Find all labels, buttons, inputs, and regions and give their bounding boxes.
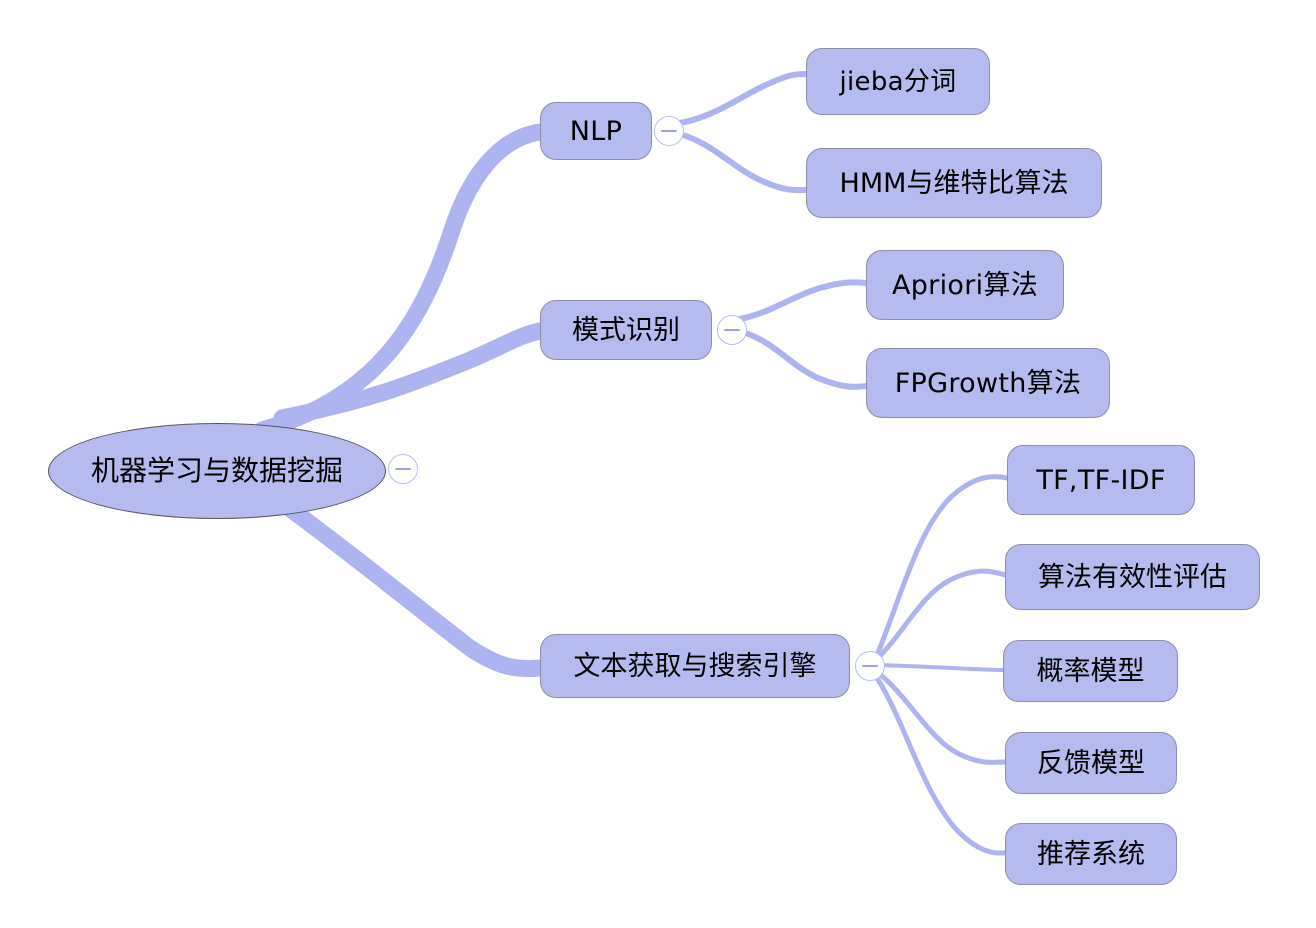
root-node[interactable]: 机器学习与数据挖掘 bbox=[48, 423, 386, 519]
leaf-node-algorithm-effectiveness-evaluation[interactable]: 算法有效性评估 bbox=[1005, 544, 1260, 610]
collapse-toggle-nlp[interactable] bbox=[654, 116, 684, 146]
edge-text-to-algo-eval bbox=[877, 571, 1005, 659]
edge-text-to-prob-model bbox=[877, 665, 1003, 670]
minus-icon bbox=[395, 468, 411, 470]
leaf-node-jieba[interactable]: jieba分词 bbox=[806, 48, 990, 115]
pattern-branch-group bbox=[735, 282, 866, 387]
edge-nlp-to-hmm bbox=[672, 132, 806, 190]
leaf-node-apriori-label: Apriori算法 bbox=[892, 272, 1038, 299]
root-node-label: 机器学习与数据挖掘 bbox=[91, 457, 343, 485]
leaf-node-apriori[interactable]: Apriori算法 bbox=[866, 250, 1064, 320]
leaf-node-probabilistic-model-label: 概率模型 bbox=[1037, 658, 1145, 685]
leaf-node-feedback-model[interactable]: 反馈模型 bbox=[1005, 732, 1177, 794]
leaf-node-algorithm-effectiveness-evaluation-label: 算法有效性评估 bbox=[1038, 564, 1227, 591]
leaf-node-hmm[interactable]: HMM与维特比算法 bbox=[806, 148, 1102, 218]
branch-node-text-retrieval-search-engine[interactable]: 文本获取与搜索引擎 bbox=[540, 634, 850, 698]
edge-pattern-to-apriori bbox=[735, 282, 866, 320]
leaf-node-tf-tfidf-label: TF,TF-IDF bbox=[1036, 467, 1165, 494]
leaf-node-recommender-system-label: 推荐系统 bbox=[1037, 841, 1145, 868]
leaf-node-fpgrowth-label: FPGrowth算法 bbox=[895, 370, 1082, 397]
leaf-node-recommender-system[interactable]: 推荐系统 bbox=[1005, 823, 1177, 885]
nlp-branch-group bbox=[672, 74, 806, 190]
branch-node-text-retrieval-search-engine-label: 文本获取与搜索引擎 bbox=[574, 653, 817, 680]
edge-text-to-recommender bbox=[877, 678, 1005, 853]
minus-icon bbox=[724, 329, 740, 331]
leaf-node-probabilistic-model[interactable]: 概率模型 bbox=[1003, 640, 1178, 702]
collapse-toggle-root[interactable] bbox=[388, 454, 418, 484]
leaf-node-feedback-model-label: 反馈模型 bbox=[1037, 750, 1145, 777]
collapse-toggle-pattern-recognition[interactable] bbox=[717, 315, 747, 345]
edge-nlp-to-jieba bbox=[672, 74, 806, 124]
leaf-node-hmm-label: HMM与维特比算法 bbox=[840, 170, 1069, 197]
leaf-node-jieba-label: jieba分词 bbox=[840, 69, 957, 95]
collapse-toggle-text-retrieval-search-engine[interactable] bbox=[855, 651, 885, 681]
minus-icon bbox=[661, 130, 677, 132]
branch-node-pattern-recognition-label: 模式识别 bbox=[572, 317, 680, 344]
leaf-node-fpgrowth[interactable]: FPGrowth算法 bbox=[866, 348, 1110, 418]
mindmap-canvas: 机器学习与数据挖掘 NLP jieba分词 HMM与维特比算法 模式识别 Apr… bbox=[0, 0, 1316, 928]
edge-root-to-pattern bbox=[282, 331, 540, 418]
branch-node-pattern-recognition[interactable]: 模式识别 bbox=[540, 300, 712, 360]
edge-pattern-to-fpgrowth bbox=[735, 330, 866, 387]
branch-node-nlp[interactable]: NLP bbox=[540, 102, 652, 160]
branch-node-nlp-label: NLP bbox=[570, 118, 622, 145]
leaf-node-tf-tfidf[interactable]: TF,TF-IDF bbox=[1007, 445, 1195, 515]
edge-root-to-text-search bbox=[285, 505, 540, 669]
root-branch-group bbox=[262, 132, 540, 669]
edge-text-to-tfidf bbox=[877, 477, 1007, 655]
minus-icon bbox=[862, 665, 878, 667]
text-search-branch-group bbox=[877, 477, 1007, 853]
